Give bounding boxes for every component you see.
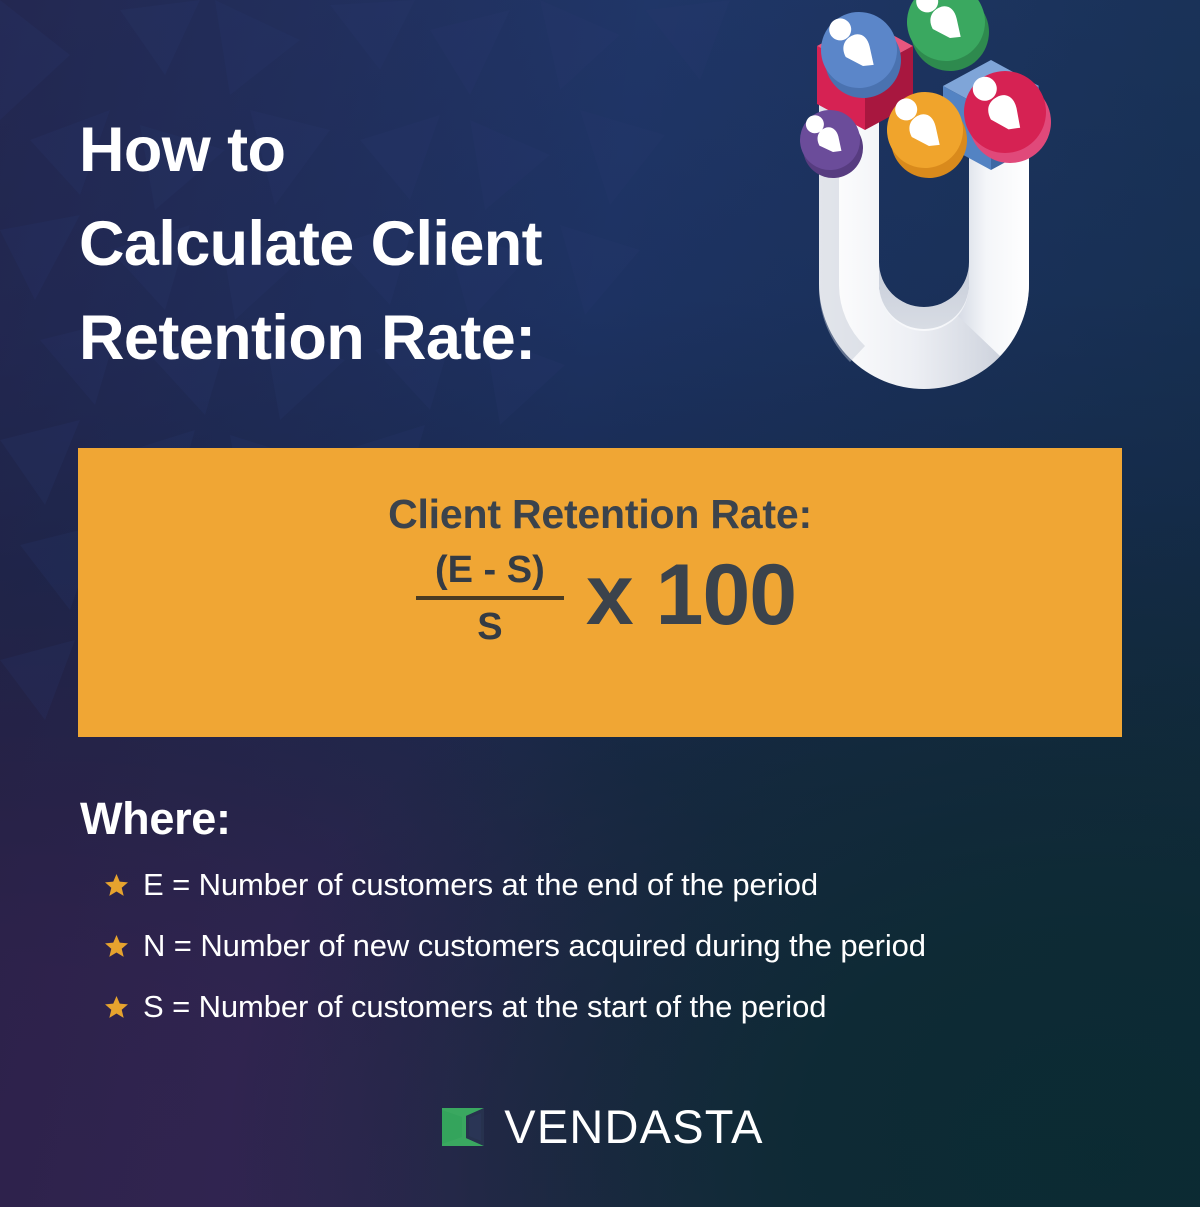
customer-token-orange	[874, 79, 981, 188]
page-title: How to Calculate Client Retention Rate:	[79, 104, 779, 386]
star-bullet-icon	[104, 934, 129, 959]
formula-expression: (E - S) S x 100	[416, 549, 796, 649]
infographic-canvas: How to Calculate Client Retention Rate:	[0, 0, 1200, 1207]
formula-numerator: (E - S)	[425, 549, 555, 596]
formula-multiplier: x 100	[586, 552, 796, 638]
list-item: S = Number of customers at the start of …	[104, 988, 1164, 1026]
customer-tokens-group	[790, 0, 1090, 188]
customer-token-green	[893, 0, 1002, 85]
customer-token-blue	[808, 0, 915, 111]
list-item-label: S = Number of customers at the start of …	[143, 988, 826, 1026]
star-bullet-icon	[104, 873, 129, 898]
where-definition-list: E = Number of customers at the end of th…	[104, 866, 1164, 1048]
list-item-label: N = Number of new customers acquired dur…	[143, 927, 926, 965]
formula-callout-box: Client Retention Rate: (E - S) S x 100	[78, 448, 1122, 737]
brand-footer: VENDASTA	[0, 1099, 1200, 1154]
formula-denominator: S	[477, 600, 502, 649]
list-item: N = Number of new customers acquired dur…	[104, 927, 1164, 965]
customer-token-purple	[790, 99, 874, 188]
brand-name: VENDASTA	[504, 1099, 763, 1154]
list-item-label: E = Number of customers at the end of th…	[143, 866, 818, 904]
vendasta-logo-mark-icon	[436, 1100, 490, 1154]
star-bullet-icon	[104, 995, 129, 1020]
formula-fraction: (E - S) S	[416, 549, 564, 649]
list-item: E = Number of customers at the end of th…	[104, 866, 1164, 904]
where-heading: Where:	[80, 793, 231, 845]
formula-title: Client Retention Rate:	[388, 491, 812, 538]
customer-token-pink	[950, 57, 1066, 178]
